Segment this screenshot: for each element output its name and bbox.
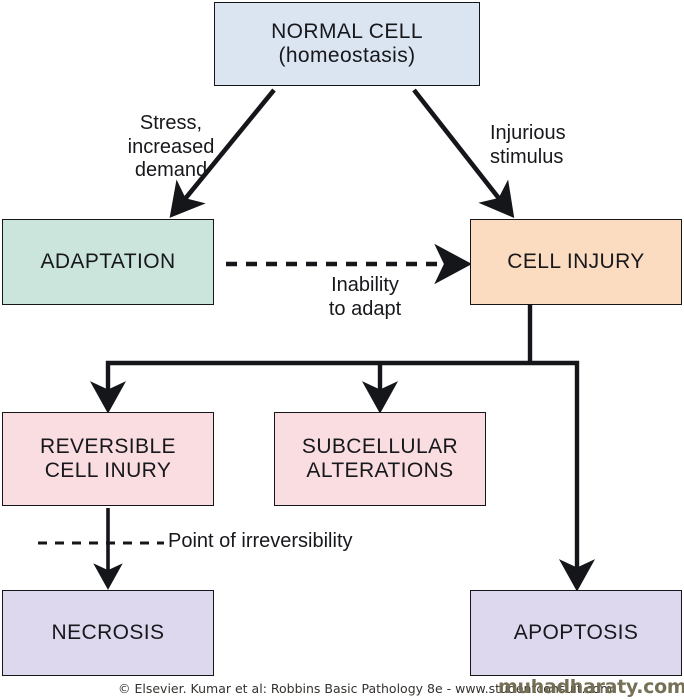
node-reversible-face: REVERSIBLE CELL INURY (3, 413, 213, 505)
node-normal-cell-face: NORMAL CELL (homeostasis) (215, 3, 479, 85)
edge-label-injurious-stimulus: Injurious stimulus (490, 122, 660, 169)
edge-label-stress: Stress, increased demand (96, 112, 246, 183)
node-adaptation-face: ADAPTATION (3, 220, 213, 304)
edge-label-point-of-irreversibility: Point of irreversibility (168, 530, 468, 554)
node-apoptosis-label: APOPTOSIS (514, 621, 639, 645)
edge-label-inability-to-adapt: Inability to adapt (300, 274, 430, 321)
node-adaptation[interactable]: ADAPTATION (2, 219, 214, 305)
diagram-canvas: NORMAL CELL (homeostasis) ADAPTATION CEL… (0, 0, 684, 700)
node-necrosis-label: NECROSIS (52, 621, 165, 645)
node-reversible-label: REVERSIBLE CELL INURY (40, 435, 176, 482)
node-adaptation-label: ADAPTATION (40, 250, 175, 274)
node-apoptosis[interactable]: APOPTOSIS (470, 590, 682, 676)
node-necrosis[interactable]: NECROSIS (2, 590, 214, 676)
node-cell-injury-label: CELL INJURY (507, 250, 644, 274)
node-cell-injury[interactable]: CELL INJURY (470, 219, 682, 305)
node-normal-cell[interactable]: NORMAL CELL (homeostasis) (214, 2, 480, 86)
node-subcellular-alterations[interactable]: SUBCELLULAR ALTERATIONS (274, 412, 486, 506)
node-necrosis-face: NECROSIS (3, 591, 213, 675)
node-cell-injury-face: CELL INJURY (471, 220, 681, 304)
node-subcellular-face: SUBCELLULAR ALTERATIONS (275, 413, 485, 505)
node-reversible-cell-injury[interactable]: REVERSIBLE CELL INURY (2, 412, 214, 506)
node-normal-cell-label: NORMAL CELL (homeostasis) (271, 20, 423, 67)
node-subcellular-label: SUBCELLULAR ALTERATIONS (302, 435, 458, 482)
node-apoptosis-face: APOPTOSIS (471, 591, 681, 675)
site-watermark: muhadharaty.com (498, 676, 684, 698)
